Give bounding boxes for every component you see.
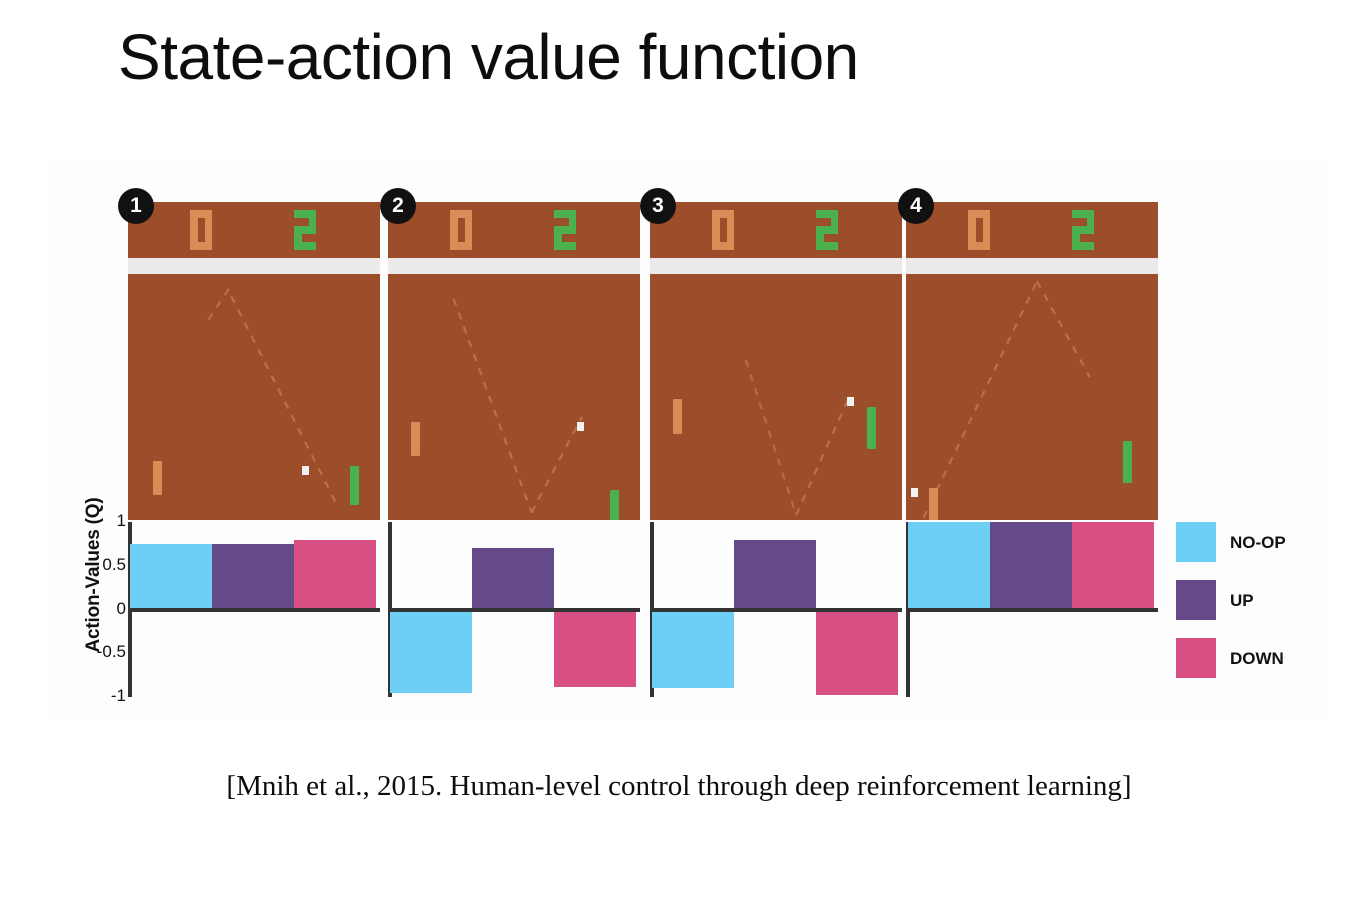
score-left-digit — [450, 210, 472, 250]
zero-baseline — [906, 608, 1158, 612]
score-band — [128, 202, 380, 258]
score-left-digit — [968, 210, 990, 250]
score-band — [388, 202, 640, 258]
legend-label: DOWN — [1230, 649, 1284, 669]
field-divider — [906, 258, 1158, 274]
slide-root: State-action value function — [0, 0, 1358, 904]
score-left-digit — [712, 210, 734, 250]
action-value-bar-chart: Action-Values (Q) 10.50-0.5-1 — [48, 522, 1328, 720]
bar-group-panel-3 — [650, 522, 902, 697]
score-right-digit — [554, 210, 576, 250]
ball — [302, 466, 309, 475]
bar-group-panel-4 — [906, 522, 1158, 697]
ball-trajectory-trace — [906, 274, 1158, 520]
game-frame-3 — [650, 202, 902, 520]
y-tick-label: -0.5 — [78, 642, 126, 662]
bar-up — [472, 548, 554, 609]
score-right-digit — [1072, 210, 1094, 250]
left-paddle — [929, 488, 938, 520]
right-paddle — [867, 407, 876, 449]
score-right-digit — [294, 210, 316, 250]
left-paddle — [153, 461, 162, 495]
bar-down — [1072, 522, 1154, 610]
bar-no-op — [908, 522, 990, 610]
score-right-digit — [816, 210, 838, 250]
bar-group-panel-2 — [388, 522, 640, 697]
bar-down — [816, 610, 898, 696]
y-tick-label: -1 — [78, 686, 126, 706]
citation-text: [Mnih et al., 2015. Human-level control … — [0, 770, 1358, 803]
panel-badge-4: 4 — [898, 188, 934, 224]
right-paddle — [350, 466, 359, 505]
bar-group-panel-1 — [128, 522, 380, 697]
play-field — [128, 274, 380, 520]
y-tick-label: 0 — [78, 599, 126, 619]
ball-trajectory-trace — [650, 274, 902, 520]
bar-no-op — [390, 610, 472, 693]
zero-baseline — [388, 608, 640, 612]
left-paddle — [673, 399, 682, 433]
ball — [911, 488, 918, 497]
zero-baseline — [650, 608, 902, 612]
panel-badge-1: 1 — [118, 188, 154, 224]
y-tick-label: 0.5 — [78, 555, 126, 575]
right-paddle — [610, 490, 619, 520]
score-left-digit — [190, 210, 212, 250]
ball — [847, 397, 854, 406]
bar-down — [294, 540, 376, 610]
chart-legend: NO-OPUPDOWN — [1176, 522, 1326, 702]
play-field — [650, 274, 902, 520]
right-paddle — [1123, 441, 1132, 483]
game-frame-4 — [906, 202, 1158, 520]
legend-swatch — [1176, 638, 1216, 678]
left-paddle — [411, 422, 420, 456]
game-frame-2 — [388, 202, 640, 520]
field-divider — [128, 258, 380, 274]
bar-no-op — [130, 544, 212, 610]
legend-swatch — [1176, 580, 1216, 620]
game-frame-1 — [128, 202, 380, 520]
play-field — [388, 274, 640, 520]
play-field — [906, 274, 1158, 520]
page-title: State-action value function — [118, 22, 859, 94]
bar-up — [990, 522, 1072, 610]
y-tick-label: 1 — [78, 511, 126, 531]
legend-swatch — [1176, 522, 1216, 562]
figure-container: 1 2 3 4 Action-Values (Q) 10.50-0.5-1 NO… — [48, 160, 1328, 720]
ball-trajectory-trace — [128, 274, 380, 520]
legend-label: UP — [1230, 591, 1254, 611]
panel-badge-2: 2 — [380, 188, 416, 224]
field-divider — [388, 258, 640, 274]
field-divider — [650, 258, 902, 274]
score-band — [650, 202, 902, 258]
y-axis-ticks: 10.50-0.5-1 — [74, 522, 126, 697]
bar-up — [734, 540, 816, 610]
legend-label: NO-OP — [1230, 533, 1286, 553]
zero-baseline — [128, 608, 380, 612]
ball-trajectory-trace — [388, 274, 640, 520]
bar-up — [212, 544, 294, 610]
score-band — [906, 202, 1158, 258]
panel-badge-3: 3 — [640, 188, 676, 224]
bar-no-op — [652, 610, 734, 689]
bar-down — [554, 610, 636, 687]
ball — [577, 422, 584, 431]
